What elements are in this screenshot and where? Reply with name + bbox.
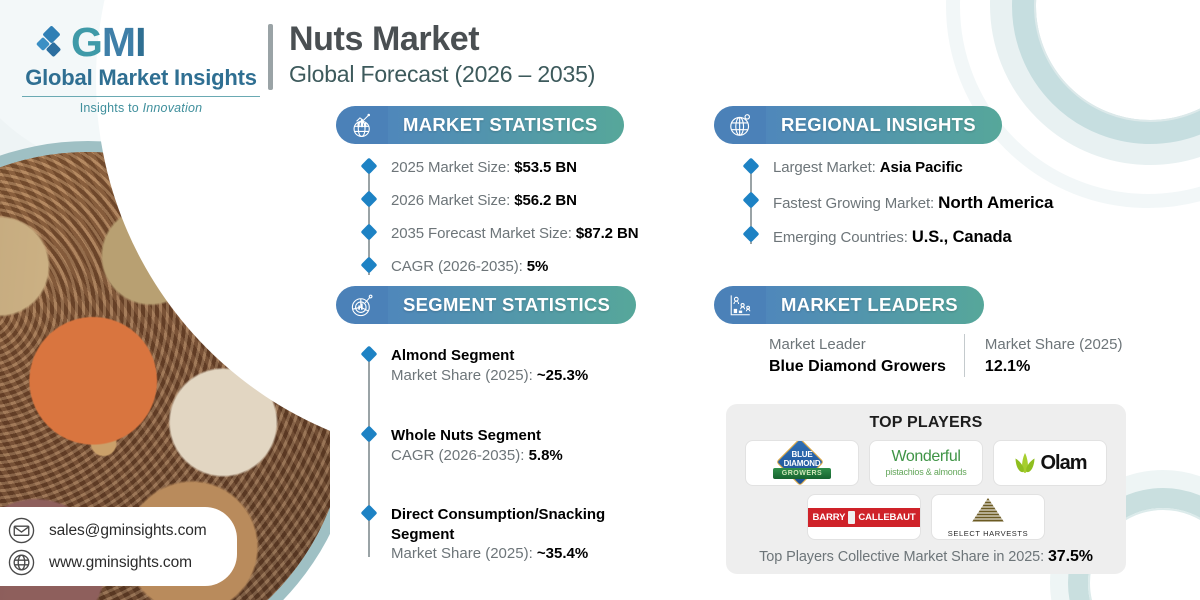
- gmi-logo-mark-row: GMI: [16, 22, 266, 63]
- blue-diamond-text: BLUE DIAMOND: [770, 451, 834, 468]
- player-tile-blue-diamond[interactable]: BLUE DIAMOND GROWERS: [745, 440, 859, 486]
- page-title: Nuts Market: [289, 20, 595, 59]
- bullet-diamond-icon: [361, 346, 378, 363]
- player-tile-barry-callebaut[interactable]: BARRY CALLEBAUT: [807, 494, 921, 540]
- section-header-market-leaders: MARKET LEADERS: [714, 286, 984, 324]
- bullet-diamond-icon: [743, 158, 760, 175]
- page-title-block: Nuts Market Global Forecast (2026 – 2035…: [268, 20, 595, 90]
- list-item: Emerging Countries: U.S., Canada: [745, 226, 1145, 252]
- market-leaders-detail: Market Leader Blue Diamond Growers Marke…: [769, 334, 1141, 377]
- list-item-label: CAGR (2026-2035):: [391, 258, 527, 275]
- list-item: Largest Market: Asia Pacific: [745, 158, 1145, 192]
- player-tile-olam[interactable]: Olam: [993, 440, 1107, 486]
- section-title: MARKET STATISTICS: [403, 114, 598, 136]
- segment-metric-value: 5.8%: [529, 447, 563, 464]
- wonderful-logo: Wonderful pistachios & almonds: [885, 449, 966, 477]
- barry-callebaut-logo: BARRY CALLEBAUT: [807, 507, 921, 528]
- segment-metric-label: CAGR (2026-2035):: [391, 447, 529, 464]
- gmi-letters: GMI: [71, 22, 145, 63]
- market-leader-value: Blue Diamond Growers: [769, 356, 946, 378]
- list-item-value: U.S., Canada: [912, 228, 1012, 246]
- collective-share-value: 37.5%: [1048, 548, 1093, 565]
- bullet-diamond-icon: [361, 257, 378, 274]
- section-title: SEGMENT STATISTICS: [403, 294, 610, 316]
- list-item-text: CAGR (2026-2035): 5%: [391, 257, 693, 277]
- section-header-regional-insights: REGIONAL INSIGHTS: [714, 106, 1002, 144]
- section-header-market-leaders-body: MARKET LEADERS: [763, 286, 984, 324]
- list-item-label: Emerging Countries:: [773, 229, 912, 246]
- segment-metric: Market Share (2025): ~25.3%: [391, 366, 693, 386]
- select-harvests-logo: SELECT HARVESTS: [948, 497, 1028, 538]
- globe-bar-chart-icon: [336, 106, 388, 144]
- title-accent-bar: [268, 24, 273, 90]
- segment-metric-label: Market Share (2025):: [391, 367, 537, 384]
- blue-diamond-band: GROWERS: [773, 468, 831, 479]
- top-right-ring-a: [990, 0, 1200, 165]
- contact-website-row[interactable]: www.gminsights.com: [8, 549, 207, 576]
- section-title: REGIONAL INSIGHTS: [781, 114, 976, 136]
- contact-email-row[interactable]: sales@gminsights.com: [8, 517, 207, 544]
- infographic-page: GMI Global Market Insights Insights to I…: [0, 0, 1200, 600]
- select-harvests-wordmark: SELECT HARVESTS: [948, 529, 1028, 538]
- section-header-segment-statistics: SEGMENT STATISTICS: [336, 286, 636, 324]
- pie-chart-target-icon: [336, 286, 388, 324]
- market-share-value: 12.1%: [985, 356, 1123, 378]
- list-item-label: 2035 Forecast Market Size:: [391, 225, 576, 242]
- list-item: CAGR (2026-2035): 5%: [363, 257, 693, 283]
- list-item-value: North America: [938, 193, 1053, 212]
- contact-footer: sales@gminsights.com www.gminsights.com: [0, 507, 237, 586]
- list-item-text: Largest Market: Asia Pacific: [773, 158, 1145, 178]
- player-tile-select-harvests[interactable]: SELECT HARVESTS: [931, 494, 1045, 540]
- bullet-diamond-icon: [361, 505, 378, 522]
- wonderful-line2: pistachios & almonds: [885, 467, 966, 477]
- list-item-value: 5%: [527, 258, 548, 275]
- globe-icon: [8, 549, 35, 576]
- list-item-label: Largest Market:: [773, 159, 880, 176]
- bullet-diamond-icon: [361, 426, 378, 443]
- list-item-value: $87.2 BN: [576, 225, 639, 242]
- list-item-text: Emerging Countries: U.S., Canada: [773, 226, 1145, 248]
- envelope-icon: [8, 517, 35, 544]
- segment-statistics-list: Almond Segment Market Share (2025): ~25.…: [363, 346, 693, 565]
- gmi-tagline-2: Innovation: [143, 101, 203, 115]
- segment-metric-value: ~35.4%: [537, 545, 588, 562]
- barry-line2: CALLEBAUT: [858, 512, 915, 523]
- select-harvests-tree-icon: [970, 497, 1006, 523]
- bullet-diamond-icon: [743, 226, 760, 243]
- list-item: 2025 Market Size: $53.5 BN: [363, 158, 693, 191]
- list-item: Fastest Growing Market: North America: [745, 192, 1145, 226]
- segment-name: Direct Consumption/Snacking Segment: [391, 505, 656, 544]
- bullet-diamond-icon: [361, 158, 378, 175]
- bullet-diamond-icon: [361, 224, 378, 241]
- top-players-panel: TOP PLAYERS BLUE DIAMOND GROWERS Wonderf…: [726, 404, 1126, 574]
- segment-metric-value: ~25.3%: [537, 367, 588, 384]
- list-item: 2035 Forecast Market Size: $87.2 BN: [363, 224, 693, 257]
- wonderful-line1: Wonderful: [885, 449, 966, 465]
- list-item: Almond Segment Market Share (2025): ~25.…: [363, 346, 693, 426]
- regional-insights-list: Largest Market: Asia Pacific Fastest Gro…: [745, 158, 1145, 252]
- top-players-row-1: BLUE DIAMOND GROWERS Wonderful pistachio…: [740, 440, 1112, 486]
- gmi-logo-divider: [22, 96, 260, 97]
- barry-line1: BARRY: [812, 512, 845, 523]
- top-players-title: TOP PLAYERS: [740, 414, 1112, 432]
- segment-metric: Market Share (2025): ~35.4%: [391, 544, 693, 564]
- market-leader-label: Market Leader: [769, 334, 946, 356]
- top-right-ring-b: [1012, 0, 1200, 144]
- olam-logo: Olam: [1013, 452, 1086, 475]
- globe-pin-icon: [714, 106, 766, 144]
- bullet-diamond-icon: [743, 192, 760, 209]
- section-header-regional-insights-body: REGIONAL INSIGHTS: [763, 106, 1002, 144]
- list-item-label: 2025 Market Size:: [391, 159, 514, 176]
- barry-divider-icon: [848, 511, 855, 524]
- list-item-text: Fastest Growing Market: North America: [773, 192, 1145, 215]
- market-share-label: Market Share (2025): [985, 334, 1123, 356]
- podium-leaders-icon: [714, 286, 766, 324]
- blue-diamond-line2: DIAMOND: [770, 460, 834, 469]
- segment-name: Almond Segment: [391, 346, 693, 366]
- list-item-value: $53.5 BN: [514, 159, 577, 176]
- gmi-tagline: Insights to Innovation: [16, 101, 266, 115]
- olam-wordmark: Olam: [1040, 452, 1086, 475]
- list-item-label: Fastest Growing Market:: [773, 195, 938, 212]
- contact-website: www.gminsights.com: [49, 554, 192, 572]
- list-item-text: 2035 Forecast Market Size: $87.2 BN: [391, 224, 693, 244]
- list-item-text: 2025 Market Size: $53.5 BN: [391, 158, 693, 178]
- list-item-text: 2026 Market Size: $56.2 BN: [391, 191, 693, 211]
- olam-leaf-icon: [1013, 452, 1037, 474]
- section-title: MARKET LEADERS: [781, 294, 958, 316]
- segment-metric: CAGR (2026-2035): 5.8%: [391, 446, 693, 466]
- bullet-diamond-icon: [361, 191, 378, 208]
- list-item: Whole Nuts Segment CAGR (2026-2035): 5.8…: [363, 426, 693, 505]
- market-leader-column: Market Leader Blue Diamond Growers: [769, 334, 964, 377]
- player-tile-wonderful[interactable]: Wonderful pistachios & almonds: [869, 440, 983, 486]
- top-players-collective-share: Top Players Collective Market Share in 2…: [740, 548, 1112, 566]
- market-share-column: Market Share (2025) 12.1%: [964, 334, 1141, 377]
- list-item-value: $56.2 BN: [514, 192, 577, 209]
- section-header-market-statistics: MARKET STATISTICS: [336, 106, 624, 144]
- page-subtitle: Global Forecast (2026 – 2035): [289, 61, 595, 88]
- market-statistics-list: 2025 Market Size: $53.5 BN 2026 Market S…: [363, 158, 693, 283]
- top-right-ring-c: [1034, 0, 1200, 122]
- section-header-segment-statistics-body: SEGMENT STATISTICS: [385, 286, 636, 324]
- list-item-value: Asia Pacific: [880, 159, 963, 176]
- list-item: Direct Consumption/Snacking Segment Mark…: [363, 505, 693, 565]
- top-players-row-2: BARRY CALLEBAUT: [740, 494, 1112, 540]
- section-header-market-statistics-body: MARKET STATISTICS: [385, 106, 624, 144]
- contact-email: sales@gminsights.com: [49, 522, 207, 540]
- collective-share-label: Top Players Collective Market Share in 2…: [759, 549, 1048, 565]
- gmi-logo[interactable]: GMI Global Market Insights Insights to I…: [16, 22, 266, 115]
- diamond-logo-icon: [38, 26, 64, 60]
- segment-metric-label: Market Share (2025):: [391, 545, 537, 562]
- segment-name: Whole Nuts Segment: [391, 426, 693, 446]
- list-item: 2026 Market Size: $56.2 BN: [363, 191, 693, 224]
- gmi-tagline-1: Insights to: [80, 101, 143, 115]
- list-item-label: 2026 Market Size:: [391, 192, 514, 209]
- gmi-company-name: Global Market Insights: [16, 65, 266, 91]
- blue-diamond-growers-logo: BLUE DIAMOND GROWERS: [770, 444, 834, 482]
